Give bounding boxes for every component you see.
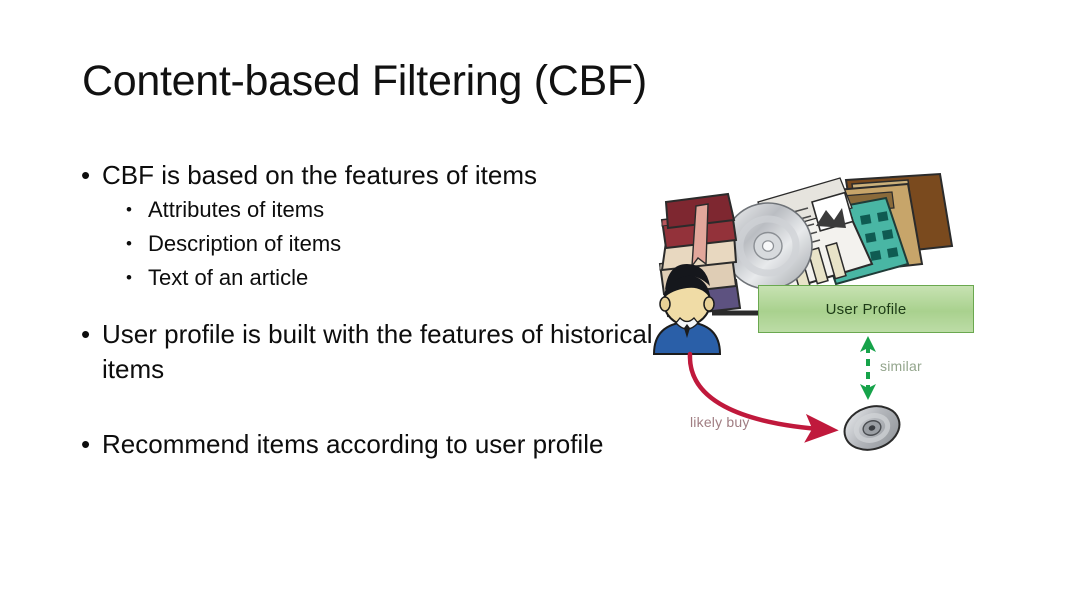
bullet-marker: •	[126, 193, 132, 227]
bullet-text: CBF is based on the features of items	[102, 160, 537, 190]
bullet-marker: •	[126, 261, 132, 295]
bullet-item-2: • Attributes of items	[78, 193, 658, 227]
bullet-marker: •	[126, 227, 132, 261]
bullet-text: User profile is built with the features …	[102, 319, 653, 384]
small-cd-icon	[839, 399, 905, 456]
bullet-text: Recommend items according to user profil…	[102, 429, 603, 459]
cbf-diagram: User Profile similar likely buy	[640, 168, 1000, 468]
bullet-item-5: • User profile is built with the feature…	[78, 317, 658, 387]
bullet-marker: •	[81, 427, 90, 462]
bullet-marker: •	[81, 158, 90, 193]
bullet-item-6: • Recommend items according to user prof…	[78, 427, 658, 462]
cd-disc-icon	[724, 203, 812, 289]
bullet-text: Description of items	[148, 231, 341, 256]
bullet-text: Text of an article	[148, 265, 308, 290]
bullet-gap	[78, 295, 658, 317]
page-title: Content-based Filtering (CBF)	[82, 58, 647, 105]
similar-arrow-icon	[860, 336, 876, 400]
bullet-marker: •	[81, 317, 90, 352]
similar-label: similar	[880, 358, 922, 374]
bullet-text: Attributes of items	[148, 197, 324, 222]
bullet-item-3: • Description of items	[78, 227, 658, 261]
bullet-list: • CBF is based on the features of items …	[78, 158, 658, 462]
slide-canvas: Content-based Filtering (CBF) • CBF is b…	[0, 0, 1080, 607]
bullet-item-4: • Text of an article	[78, 261, 658, 295]
bullet-gap	[78, 387, 658, 409]
user-profile-box[interactable]: User Profile	[758, 285, 974, 333]
bullet-gap	[78, 409, 658, 427]
user-profile-label: User Profile	[826, 301, 907, 318]
likely-buy-label: likely buy	[690, 414, 750, 430]
bullet-item-1: • CBF is based on the features of items	[78, 158, 658, 193]
